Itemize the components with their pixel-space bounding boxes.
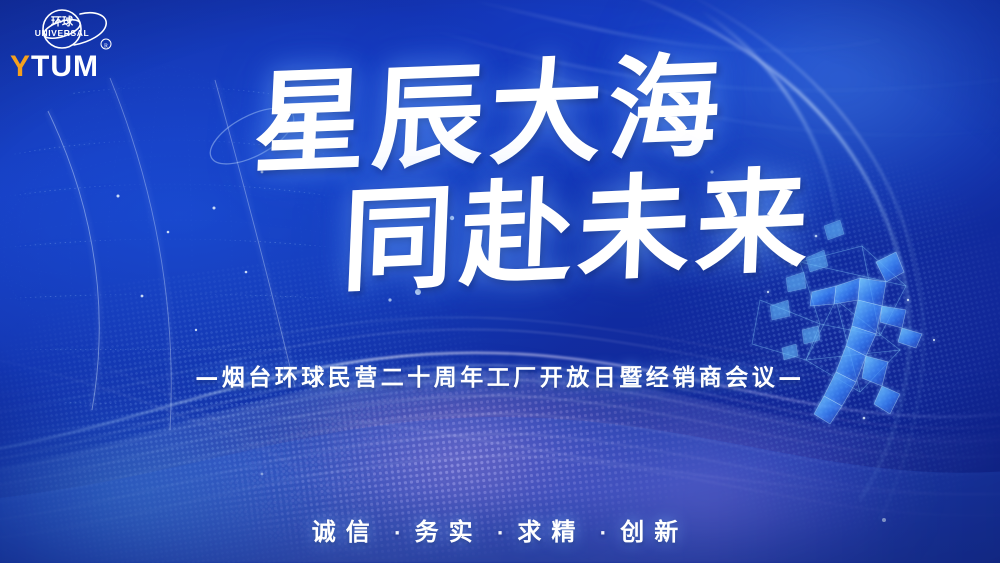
globe-orbit-icon: 环球 UNIVERSAL R xyxy=(22,6,118,54)
slogan-word-4: 创新 xyxy=(620,518,688,546)
logo-wordmark: YTUM xyxy=(10,52,99,82)
wordmark-accent-letter: Y xyxy=(10,50,31,83)
halftone-dots-right xyxy=(517,77,1000,563)
edge-vignette xyxy=(0,0,1000,563)
headline-line-1: 星辰大海 xyxy=(0,41,992,192)
headline-line-2: 同赴未来 xyxy=(76,153,1000,311)
globe-en-label: UNIVERSAL xyxy=(35,28,90,38)
low-poly-running-figure xyxy=(0,0,1000,563)
slogan-word-1: 诚信 xyxy=(312,518,380,546)
company-logo[interactable]: 环球 UNIVERSAL R YTUM xyxy=(8,6,128,86)
slogan-separator-2: · xyxy=(497,523,504,544)
orbital-ring xyxy=(202,97,302,176)
conference-banner: 环球 UNIVERSAL R YTUM 星辰大海 同赴未来 —烟台环球民营二十周… xyxy=(0,0,1000,563)
wireframe-dotted-globe xyxy=(0,0,1000,563)
top-glow-bloom xyxy=(630,0,1000,230)
slogan-word-3: 求精 xyxy=(517,518,585,546)
headline-block: 星辰大海 同赴未来 xyxy=(0,60,1000,288)
flowing-light-ribbons xyxy=(0,0,1000,563)
wordmark-rest: TUM xyxy=(31,50,99,83)
event-subtitle: —烟台环球民营二十周年工厂开放日暨经销商会议— xyxy=(0,358,1000,392)
slogan-separator-1: · xyxy=(394,523,401,544)
registered-mark-icon: R xyxy=(101,39,111,49)
svg-text:R: R xyxy=(104,43,108,49)
slogan-word-2: 务实 xyxy=(415,518,483,546)
slogan-separator-3: · xyxy=(599,523,606,544)
globe-cn-label: 环球 xyxy=(51,14,74,28)
sparkle-accents xyxy=(0,0,1000,563)
corporate-slogan: 诚信·务实·求精·创新 xyxy=(0,512,1000,547)
light-streak-curves xyxy=(0,0,1000,563)
magenta-bloom xyxy=(300,395,630,525)
